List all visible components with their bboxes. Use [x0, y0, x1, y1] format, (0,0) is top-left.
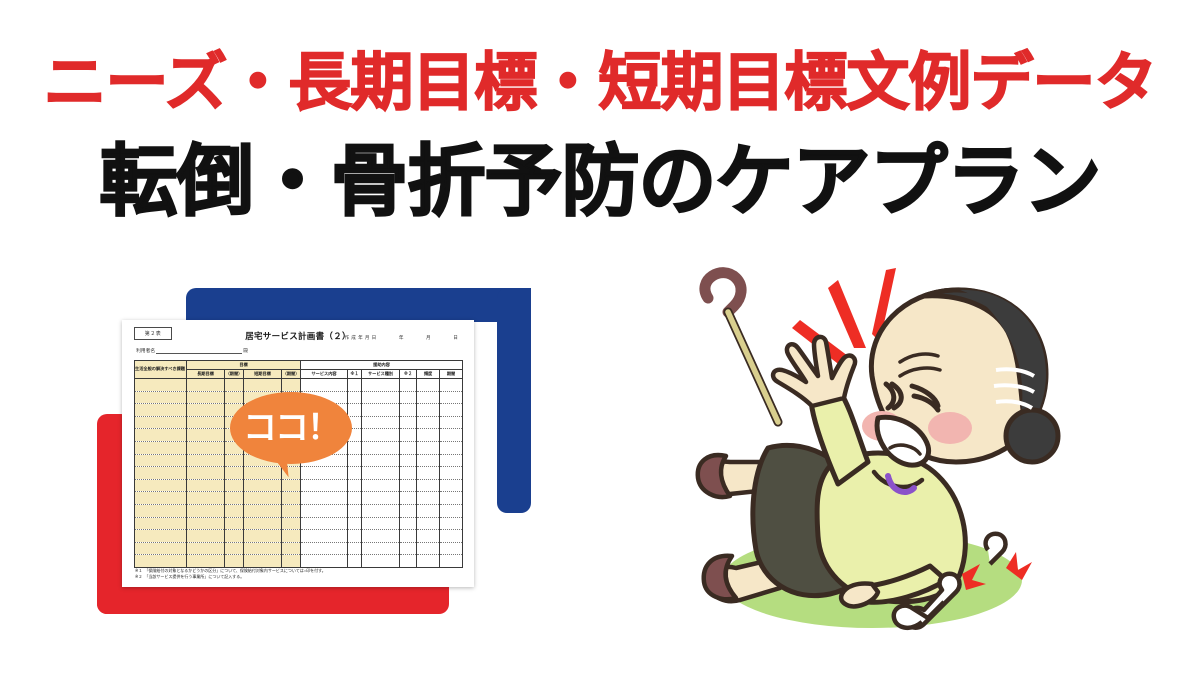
table-cell[interactable]	[362, 555, 400, 568]
table-cell[interactable]	[135, 542, 187, 555]
table-cell[interactable]	[282, 517, 301, 530]
table-cell[interactable]	[301, 504, 348, 517]
table-cell[interactable]	[225, 517, 244, 530]
form-user-name-label: 利用者名	[136, 349, 155, 354]
table-row[interactable]	[135, 492, 463, 505]
table-cell[interactable]	[440, 379, 463, 392]
table-cell[interactable]	[135, 555, 187, 568]
table-cell[interactable]	[362, 404, 400, 417]
table-cell[interactable]	[187, 517, 225, 530]
table-cell[interactable]	[244, 517, 282, 530]
table-cell[interactable]	[417, 504, 440, 517]
footnote-2: ※２ 「当該サービス提供を行う事業所」について記入する。	[135, 574, 326, 580]
table-cell[interactable]	[417, 429, 440, 442]
table-cell[interactable]	[301, 542, 348, 555]
table-cell[interactable]	[301, 379, 348, 392]
table-cell[interactable]	[400, 467, 417, 480]
table-cell[interactable]	[440, 504, 463, 517]
table-cell[interactable]	[362, 429, 400, 442]
table-cell[interactable]	[417, 555, 440, 568]
col-header-service-type: サービス種別	[362, 370, 400, 379]
table-cell[interactable]	[135, 404, 187, 417]
cane-icon	[705, 273, 778, 422]
table-cell[interactable]	[400, 542, 417, 555]
table-cell[interactable]	[187, 429, 225, 442]
table-cell[interactable]	[135, 429, 187, 442]
table-cell[interactable]	[244, 479, 282, 492]
table-cell[interactable]	[225, 492, 244, 505]
table-cell[interactable]	[400, 555, 417, 568]
table-cell[interactable]	[400, 441, 417, 454]
table-cell[interactable]	[440, 391, 463, 404]
table-cell[interactable]	[187, 504, 225, 517]
table-cell[interactable]	[400, 492, 417, 505]
blue-accent-bar-vertical	[497, 288, 531, 513]
table-cell[interactable]	[135, 454, 187, 467]
blue-accent-bar-horizontal	[186, 288, 531, 322]
table-cell[interactable]	[417, 542, 440, 555]
table-cell[interactable]	[440, 441, 463, 454]
table-cell[interactable]	[440, 454, 463, 467]
col-header-frequency: 頻度	[417, 370, 440, 379]
col-header-short-term-goal: 短期目標	[244, 370, 282, 379]
table-cell[interactable]	[348, 530, 362, 543]
table-cell[interactable]	[440, 404, 463, 417]
table-cell[interactable]	[400, 504, 417, 517]
table-cell[interactable]	[362, 379, 400, 392]
table-cell[interactable]	[417, 416, 440, 429]
table-group-header-row: 生活全般の解決すべき課題（ニーズ） 目標 援助内容	[135, 361, 463, 370]
table-cell[interactable]	[187, 467, 225, 480]
head	[862, 290, 1058, 465]
table-cell[interactable]	[417, 467, 440, 480]
table-cell[interactable]	[244, 504, 282, 517]
table-cell[interactable]	[362, 504, 400, 517]
table-cell[interactable]	[362, 441, 400, 454]
table-cell[interactable]	[187, 530, 225, 543]
table-cell[interactable]	[440, 492, 463, 505]
speech-bubble-label: ココ！	[230, 392, 352, 464]
form-user-name-suffix: 殿	[243, 349, 248, 354]
table-cell[interactable]	[244, 379, 282, 392]
table-cell[interactable]	[348, 479, 362, 492]
table-cell[interactable]	[187, 391, 225, 404]
table-cell[interactable]	[135, 416, 187, 429]
table-cell[interactable]	[225, 504, 244, 517]
table-cell[interactable]	[135, 504, 187, 517]
table-cell[interactable]	[244, 492, 282, 505]
col-header-long-term-period: （期間）	[225, 370, 244, 379]
poster-subtitle: ニーズ・長期目標・短期目標文例データ	[0, 52, 1200, 115]
table-cell[interactable]	[282, 530, 301, 543]
table-cell[interactable]	[440, 467, 463, 480]
table-cell[interactable]	[440, 416, 463, 429]
table-cell[interactable]	[362, 454, 400, 467]
table-cell[interactable]	[187, 555, 225, 568]
table-cell[interactable]	[348, 542, 362, 555]
table-cell[interactable]	[362, 479, 400, 492]
poster-canvas: ニーズ・長期目標・短期目標文例データ 転倒・骨折予防のケアプラン 第２表 居宅サ…	[0, 0, 1200, 675]
table-cell[interactable]	[187, 542, 225, 555]
col-header-needs: 生活全般の解決すべき課題（ニーズ）	[135, 361, 187, 379]
table-cell[interactable]	[244, 555, 282, 568]
table-row[interactable]	[135, 504, 463, 517]
col-header-note1: ※１	[348, 370, 362, 379]
table-cell[interactable]	[282, 492, 301, 505]
table-cell[interactable]	[348, 504, 362, 517]
table-cell[interactable]	[362, 542, 400, 555]
table-cell[interactable]	[417, 454, 440, 467]
table-cell[interactable]	[282, 555, 301, 568]
table-cell[interactable]	[417, 404, 440, 417]
table-cell[interactable]	[440, 479, 463, 492]
table-cell[interactable]	[362, 416, 400, 429]
table-cell[interactable]	[135, 479, 187, 492]
table-cell[interactable]	[282, 504, 301, 517]
table-cell[interactable]	[440, 542, 463, 555]
poster-title: 転倒・骨折予防のケアプラン	[0, 142, 1200, 220]
form-created-date: 作成年月日 年 月 日	[345, 335, 461, 341]
falling-elderly-woman-illustration	[660, 250, 1080, 660]
table-cell[interactable]	[348, 517, 362, 530]
table-cell[interactable]	[417, 379, 440, 392]
table-cell[interactable]	[225, 479, 244, 492]
table-cell[interactable]	[225, 530, 244, 543]
table-cell[interactable]	[362, 391, 400, 404]
table-cell[interactable]	[440, 530, 463, 543]
speech-bubble-icon: ココ！	[230, 392, 352, 480]
col-header-short-term-period: （期間）	[282, 370, 301, 379]
form-user-name-rule	[156, 347, 242, 354]
table-cell[interactable]	[362, 467, 400, 480]
table-cell[interactable]	[417, 530, 440, 543]
form-user-name-field: 利用者名殿	[136, 347, 248, 354]
table-cell[interactable]	[282, 379, 301, 392]
table-row[interactable]	[135, 530, 463, 543]
table-row[interactable]	[135, 542, 463, 555]
table-cell[interactable]	[400, 379, 417, 392]
table-cell[interactable]	[135, 441, 187, 454]
col-group-header-support: 援助内容	[301, 361, 463, 370]
table-cell[interactable]	[187, 454, 225, 467]
table-cell[interactable]	[400, 416, 417, 429]
table-cell[interactable]	[187, 416, 225, 429]
table-cell[interactable]	[348, 379, 362, 392]
table-cell[interactable]	[282, 479, 301, 492]
footnote-1: ※１ 「保険給付の対象となるかどうかの区分」について、保険給付対象内サービスにつ…	[135, 568, 326, 574]
table-row[interactable]	[135, 555, 463, 568]
cheek-right	[928, 412, 972, 444]
table-cell[interactable]	[400, 429, 417, 442]
table-cell[interactable]	[187, 492, 225, 505]
table-cell[interactable]	[301, 517, 348, 530]
col-header-note2: ※２	[400, 370, 417, 379]
table-cell[interactable]	[187, 379, 225, 392]
table-cell[interactable]	[400, 479, 417, 492]
table-cell[interactable]	[417, 479, 440, 492]
table-cell[interactable]	[187, 404, 225, 417]
col-header-long-term-goal: 長期目標	[187, 370, 225, 379]
table-cell[interactable]	[362, 530, 400, 543]
table-cell[interactable]	[135, 517, 187, 530]
table-cell[interactable]	[135, 467, 187, 480]
table-row[interactable]	[135, 479, 463, 492]
table-cell[interactable]	[400, 517, 417, 530]
form-footnotes: ※１ 「保険給付の対象となるかどうかの区分」について、保険給付対象内サービスにつ…	[135, 568, 326, 580]
table-cell[interactable]	[400, 404, 417, 417]
table-row[interactable]	[135, 379, 463, 392]
col-group-header-goals: 目標	[187, 361, 301, 370]
table-cell[interactable]	[400, 530, 417, 543]
table-cell[interactable]	[187, 441, 225, 454]
col-header-period: 期間	[440, 370, 463, 379]
table-cell[interactable]	[417, 441, 440, 454]
table-head: 生活全般の解決すべき課題（ニーズ） 目標 援助内容 長期目標 （期間） 短期目標…	[135, 361, 463, 379]
table-cell[interactable]	[187, 479, 225, 492]
table-cell[interactable]	[400, 454, 417, 467]
hair-bun	[1006, 410, 1058, 462]
table-cell[interactable]	[301, 479, 348, 492]
table-cell[interactable]	[440, 555, 463, 568]
table-cell[interactable]	[440, 429, 463, 442]
table-cell[interactable]	[244, 530, 282, 543]
table-cell[interactable]	[135, 530, 187, 543]
table-cell[interactable]	[301, 492, 348, 505]
table-cell[interactable]	[135, 379, 187, 392]
table-cell[interactable]	[282, 542, 301, 555]
table-cell[interactable]	[362, 492, 400, 505]
table-row[interactable]	[135, 517, 463, 530]
table-cell[interactable]	[348, 555, 362, 568]
table-cell[interactable]	[301, 530, 348, 543]
table-cell[interactable]	[417, 492, 440, 505]
table-cell[interactable]	[440, 517, 463, 530]
table-cell[interactable]	[400, 391, 417, 404]
open-hand	[773, 337, 855, 406]
table-cell[interactable]	[135, 492, 187, 505]
table-cell[interactable]	[301, 555, 348, 568]
table-cell[interactable]	[362, 517, 400, 530]
table-cell[interactable]	[225, 379, 244, 392]
table-cell[interactable]	[135, 391, 187, 404]
table-cell[interactable]	[348, 492, 362, 505]
table-cell[interactable]	[417, 391, 440, 404]
table-cell[interactable]	[417, 517, 440, 530]
table-cell[interactable]	[244, 542, 282, 555]
table-cell[interactable]	[225, 542, 244, 555]
table-cell[interactable]	[225, 555, 244, 568]
col-header-service-content: サービス内容	[301, 370, 348, 379]
